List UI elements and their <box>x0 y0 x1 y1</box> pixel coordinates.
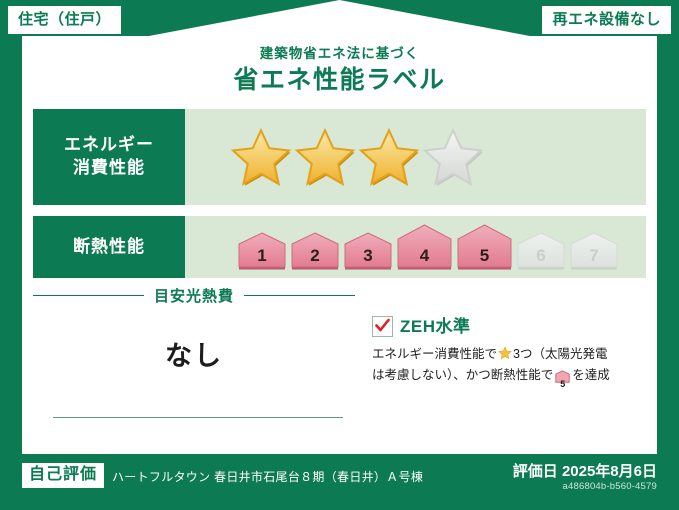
zeh-checkbox[interactable] <box>372 316 393 337</box>
check-icon <box>374 317 391 334</box>
insulation-level-number: 6 <box>516 247 566 264</box>
utility-cost-divider <box>53 417 343 418</box>
building-type-tag: 住宅（住戸） <box>8 6 121 34</box>
energy-performance-row: エネルギー 消費性能 <box>33 109 646 205</box>
inline-house-number: 5 <box>555 380 570 389</box>
utility-cost-heading-text: 目安光熱費 <box>144 285 244 306</box>
zeh-desc-part1: エネルギー消費性能で <box>372 347 497 361</box>
title-subtitle: 建築物省エネ法に基づく <box>22 46 657 62</box>
label-footer: 自己評価 ハートフルタウン 春日井市石尾台８期（春日井）Ａ号棟 評価日 2025… <box>0 454 679 510</box>
energy-performance-label: エネルギー 消費性能 <box>33 109 185 205</box>
self-evaluation-badge: 自己評価 <box>22 463 104 488</box>
insulation-level-badge: 3 <box>343 232 393 270</box>
title-main: 省エネ性能ラベル <box>22 65 657 96</box>
insulation-level-number: 5 <box>456 247 513 264</box>
zeh-column: ZEH水準 エネルギー消費性能で3つ（太陽光発電 は考慮しない）、かつ断熱性能で… <box>372 284 646 390</box>
utility-cost-heading: 目安光熱費 <box>33 284 355 306</box>
star-filled-icon <box>358 127 420 187</box>
zeh-desc-part4: を達成 <box>572 368 610 382</box>
insulation-level-badge: 4 <box>396 224 453 270</box>
property-name: ハートフルタウン 春日井市石尾台８期（春日井）Ａ号棟 <box>112 468 423 485</box>
evaluation-date: 評価日 2025年8月6日 <box>513 460 657 481</box>
star-filled-icon <box>294 127 356 187</box>
insulation-level-scale: 1234567 <box>237 224 619 270</box>
zeh-desc-part2: 3つ（太陽光発電 <box>513 347 607 361</box>
energy-label-line2: 消費性能 <box>73 157 145 180</box>
renewable-energy-tag: 再エネ設備なし <box>542 6 671 34</box>
title-block: 建築物省エネ法に基づく 省エネ性能ラベル <box>22 46 657 96</box>
insulation-performance-value: 1234567 <box>185 216 646 278</box>
lower-section: 目安光熱費 なし ZEH水準 エネルギー消費性能で3つ（太陽光発電 は考慮しな <box>22 284 657 454</box>
insulation-performance-label: 断熱性能 <box>33 216 185 278</box>
inline-house-badge-icon: 5 <box>555 370 570 389</box>
insulation-level-number: 1 <box>237 247 287 264</box>
insulation-performance-row: 断熱性能 1234567 <box>33 216 646 278</box>
insulation-level-number: 2 <box>290 247 340 264</box>
insulation-level-badge: 2 <box>290 232 340 270</box>
zeh-desc-part3: は考慮しない）、かつ断熱性能で <box>372 368 553 382</box>
insulation-level-number: 4 <box>396 247 453 264</box>
star-empty-icon <box>422 127 484 187</box>
insulation-level-badge: 5 <box>456 224 513 270</box>
label-card: 建築物省エネ法に基づく 省エネ性能ラベル エネルギー 消費性能 断熱性能 123… <box>22 36 657 454</box>
star-filled-icon <box>230 127 292 187</box>
insulation-level-badge: 6 <box>516 232 566 270</box>
energy-performance-value <box>185 109 646 205</box>
insulation-label-text: 断熱性能 <box>73 236 145 259</box>
star-rating <box>230 127 484 187</box>
insulation-level-badge: 7 <box>569 232 619 270</box>
energy-performance-label: 住宅（住戸） 再エネ設備なし 建築物省エネ法に基づく 省エネ性能ラベル エネルギ… <box>0 0 679 510</box>
zeh-title: ZEH水準 <box>400 318 471 335</box>
evaluation-date-label: 評価日 <box>513 463 558 480</box>
zeh-description: エネルギー消費性能で3つ（太陽光発電 は考慮しない）、かつ断熱性能で5を達成 <box>372 345 646 390</box>
inline-star-icon <box>498 346 512 366</box>
insulation-level-number: 7 <box>569 247 619 264</box>
zeh-heading: ZEH水準 <box>372 316 646 337</box>
insulation-level-number: 3 <box>343 247 393 264</box>
evaluation-id: a486804b-b560-4579 <box>563 481 657 492</box>
utility-cost-value: なし <box>33 334 355 373</box>
evaluation-date-value: 2025年8月6日 <box>562 463 657 480</box>
insulation-level-badge: 1 <box>237 232 287 270</box>
energy-label-line1: エネルギー <box>64 134 154 157</box>
utility-cost-column: 目安光熱費 なし <box>33 284 355 454</box>
